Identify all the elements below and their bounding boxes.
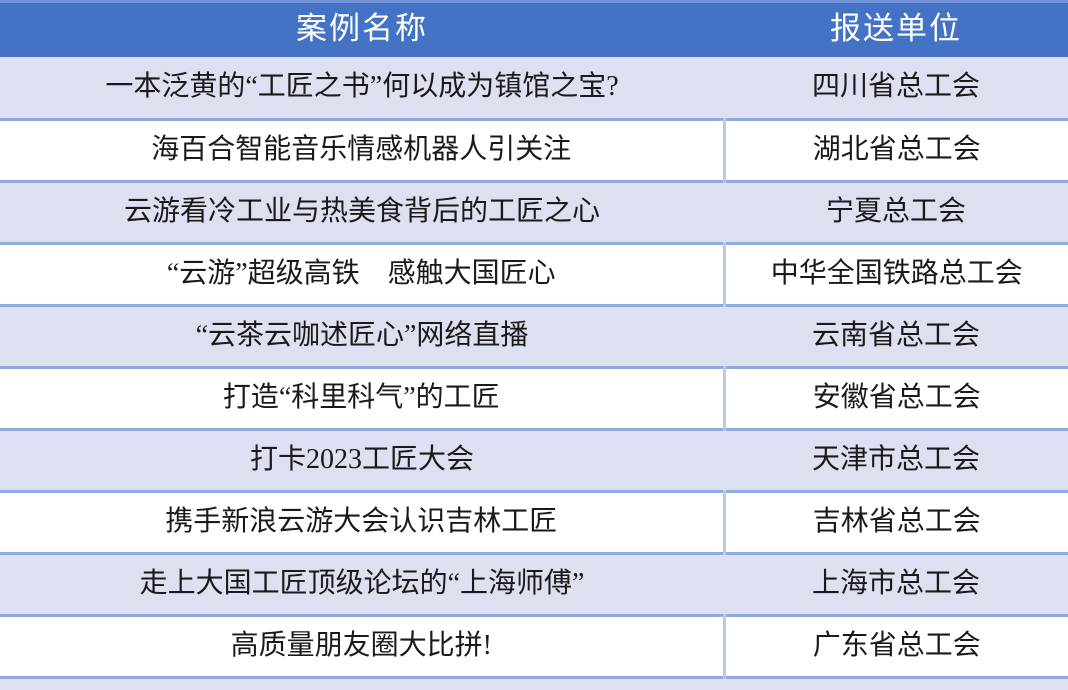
case-table-container: 案例名称 报送单位 一本泛黄的“工匠之书”何以成为镇馆之宝? 四川省总工会 海百… [0, 0, 1068, 690]
table-header: 案例名称 报送单位 [0, 0, 1068, 57]
table-row[interactable]: 高质量朋友圈大比拼! 广东省总工会 [0, 615, 1068, 677]
cell-case-name: “云游”超级高铁 感触大国匠心 [0, 243, 724, 305]
cell-case-name: 高质量朋友圈大比拼! [0, 615, 724, 677]
table-row[interactable]: “云游”超级高铁 感触大国匠心 中华全国铁路总工会 [0, 243, 1068, 305]
table-row[interactable]: 海百合智能音乐情感机器人引关注 湖北省总工会 [0, 119, 1068, 181]
cell-submitting-unit: 上海市总工会 [724, 553, 1068, 615]
cell-case-name: 海百合智能音乐情感机器人引关注 [0, 119, 724, 181]
cell-case-name: 携手新浪云游大会认识吉林工匠 [0, 491, 724, 553]
cell-case-name: 打造“科里科气”的工匠 [0, 367, 724, 429]
table-row[interactable] [0, 677, 1068, 690]
cell-case-name: 一本泛黄的“工匠之书”何以成为镇馆之宝? [0, 57, 724, 119]
cell-submitting-unit: 广东省总工会 [724, 615, 1068, 677]
table-row[interactable]: 一本泛黄的“工匠之书”何以成为镇馆之宝? 四川省总工会 [0, 57, 1068, 119]
cell-case-name: 走上大国工匠顶级论坛的“上海师傅” [0, 553, 724, 615]
cell-case-name: “云茶云咖述匠心”网络直播 [0, 305, 724, 367]
cell-submitting-unit: 云南省总工会 [724, 305, 1068, 367]
cell-submitting-unit: 安徽省总工会 [724, 367, 1068, 429]
table-row[interactable]: 打卡2023工匠大会 天津市总工会 [0, 429, 1068, 491]
table-row[interactable]: 携手新浪云游大会认识吉林工匠 吉林省总工会 [0, 491, 1068, 553]
cell-submitting-unit: 宁夏总工会 [724, 181, 1068, 243]
cell-case-name: 云游看冷工业与热美食背后的工匠之心 [0, 181, 724, 243]
cell-submitting-unit: 湖北省总工会 [724, 119, 1068, 181]
cell-submitting-unit: 中华全国铁路总工会 [724, 243, 1068, 305]
table-body: 一本泛黄的“工匠之书”何以成为镇馆之宝? 四川省总工会 海百合智能音乐情感机器人… [0, 57, 1068, 690]
cell-submitting-unit: 吉林省总工会 [724, 491, 1068, 553]
cell-submitting-unit [724, 677, 1068, 690]
table-row[interactable]: 走上大国工匠顶级论坛的“上海师傅” 上海市总工会 [0, 553, 1068, 615]
table-row[interactable]: 打造“科里科气”的工匠 安徽省总工会 [0, 367, 1068, 429]
table-header-row: 案例名称 报送单位 [0, 0, 1068, 57]
table-row[interactable]: “云茶云咖述匠心”网络直播 云南省总工会 [0, 305, 1068, 367]
cell-submitting-unit: 四川省总工会 [724, 57, 1068, 119]
table-header-top-accent [0, 0, 1068, 3]
column-header-case-name[interactable]: 案例名称 [0, 0, 724, 57]
cell-submitting-unit: 天津市总工会 [724, 429, 1068, 491]
cell-case-name: 打卡2023工匠大会 [0, 429, 724, 491]
column-header-submitting-unit[interactable]: 报送单位 [724, 0, 1068, 57]
cell-case-name [0, 677, 724, 690]
case-table: 案例名称 报送单位 一本泛黄的“工匠之书”何以成为镇馆之宝? 四川省总工会 海百… [0, 0, 1068, 690]
table-row[interactable]: 云游看冷工业与热美食背后的工匠之心 宁夏总工会 [0, 181, 1068, 243]
